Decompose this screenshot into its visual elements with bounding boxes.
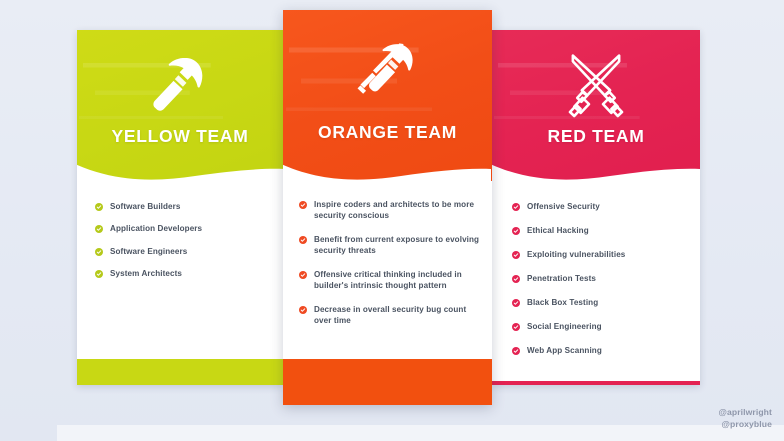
card-header-orange: ORANGE TEAM xyxy=(283,10,492,181)
list-item-label: Offensive critical thinking included in … xyxy=(314,269,480,292)
check-circle-icon xyxy=(512,203,520,211)
list-item: Penetration Tests xyxy=(512,273,688,284)
check-circle-icon xyxy=(95,203,103,211)
list-item-label: Inspire coders and architects to be more… xyxy=(314,199,480,222)
list-item: Social Engineering xyxy=(512,321,688,332)
list-item-label: Software Engineers xyxy=(110,246,187,257)
list-item-label: Offensive Security xyxy=(527,201,600,212)
infographic-canvas: YELLOW TEAM Software Builders Applicatio… xyxy=(0,0,784,441)
wave-divider xyxy=(77,152,283,181)
list-item-label: Software Builders xyxy=(110,201,181,212)
list-item-label: Exploiting vulnerabilities xyxy=(527,249,625,260)
check-circle-icon xyxy=(512,299,520,307)
team-card-red[interactable]: RED TEAM Offensive Security Ethical Hack… xyxy=(492,30,700,385)
list-item: System Architects xyxy=(95,268,269,279)
hammer-and-sword-icon xyxy=(283,28,492,114)
check-circle-icon xyxy=(299,271,307,279)
check-circle-icon xyxy=(95,270,103,278)
team-list-red: Offensive Security Ethical Hacking Explo… xyxy=(512,201,688,356)
check-circle-icon xyxy=(95,225,103,233)
card-footer-yellow xyxy=(77,357,283,385)
check-circle-icon xyxy=(512,323,520,331)
card-body-red: Offensive Security Ethical Hacking Explo… xyxy=(492,181,700,379)
wave-divider xyxy=(283,152,491,181)
attribution-line-2: @proxyblue xyxy=(718,419,772,430)
wave-divider xyxy=(492,152,700,181)
check-circle-icon xyxy=(512,227,520,235)
card-body-orange: Inspire coders and architects to be more… xyxy=(283,181,492,357)
hammer-icon xyxy=(77,42,283,128)
list-item: Application Developers xyxy=(95,223,269,234)
list-item-label: Penetration Tests xyxy=(527,273,596,284)
crossed-swords-icon xyxy=(492,42,700,128)
list-item: Offensive critical thinking included in … xyxy=(299,269,480,292)
team-card-yellow[interactable]: YELLOW TEAM Software Builders Applicatio… xyxy=(77,30,283,385)
card-footer-red xyxy=(492,379,700,385)
list-item: Benefit from current exposure to evolvin… xyxy=(299,234,480,257)
card-body-yellow: Software Builders Application Developers… xyxy=(77,181,283,357)
list-item: Inspire coders and architects to be more… xyxy=(299,199,480,222)
list-item: Web App Scanning xyxy=(512,345,688,356)
card-footer-orange xyxy=(283,357,492,405)
list-item-label: Social Engineering xyxy=(527,321,602,332)
team-list-orange: Inspire coders and architects to be more… xyxy=(299,199,480,327)
card-title-orange: ORANGE TEAM xyxy=(283,122,492,143)
list-item-label: Ethical Hacking xyxy=(527,225,589,236)
list-item: Software Builders xyxy=(95,201,269,212)
card-title-yellow: YELLOW TEAM xyxy=(77,126,283,147)
bottom-strip xyxy=(57,425,784,441)
list-item: Exploiting vulnerabilities xyxy=(512,249,688,260)
list-item: Black Box Testing xyxy=(512,297,688,308)
attribution-line-1: @aprilwright xyxy=(718,407,772,418)
check-circle-icon xyxy=(299,201,307,209)
check-circle-icon xyxy=(512,347,520,355)
list-item-label: Benefit from current exposure to evolvin… xyxy=(314,234,480,257)
list-item-label: Web App Scanning xyxy=(527,345,602,356)
card-title-red: RED TEAM xyxy=(492,126,700,147)
list-item: Decrease in overall security bug count o… xyxy=(299,304,480,327)
card-header-red: RED TEAM xyxy=(492,30,700,181)
list-item: Software Engineers xyxy=(95,246,269,257)
list-item-label: Black Box Testing xyxy=(527,297,598,308)
check-circle-icon xyxy=(299,306,307,314)
attribution: @aprilwright @proxyblue xyxy=(718,407,772,430)
list-item-label: System Architects xyxy=(110,268,182,279)
list-item: Offensive Security xyxy=(512,201,688,212)
list-item-label: Decrease in overall security bug count o… xyxy=(314,304,480,327)
list-item: Ethical Hacking xyxy=(512,225,688,236)
team-list-yellow: Software Builders Application Developers… xyxy=(95,201,269,280)
list-item-label: Application Developers xyxy=(110,223,202,234)
check-circle-icon xyxy=(95,248,103,256)
check-circle-icon xyxy=(512,251,520,259)
card-header-yellow: YELLOW TEAM xyxy=(77,30,283,181)
team-card-orange[interactable]: ORANGE TEAM Inspire coders and architect… xyxy=(283,10,492,405)
check-circle-icon xyxy=(299,236,307,244)
check-circle-icon xyxy=(512,275,520,283)
